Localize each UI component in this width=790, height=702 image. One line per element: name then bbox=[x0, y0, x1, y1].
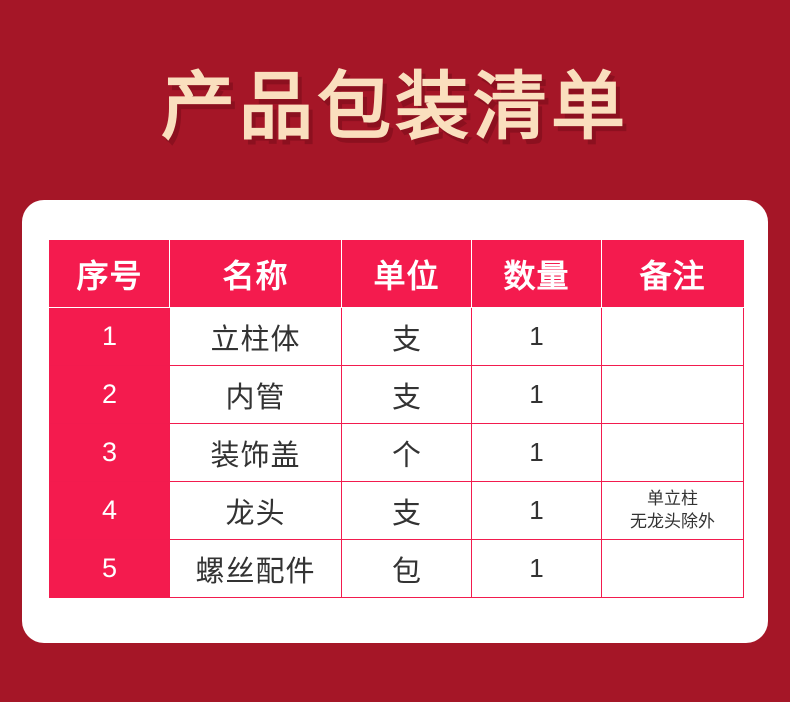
cell-index: 1 bbox=[50, 308, 170, 366]
packing-list-table: 序号 名称 单位 数量 备注 1 立柱体 支 1 bbox=[49, 240, 744, 598]
cell-remark bbox=[602, 424, 744, 482]
cell-remark: 单立柱 无龙头除外 bbox=[602, 482, 744, 540]
cell-index: 5 bbox=[50, 540, 170, 598]
table-header-row: 序号 名称 单位 数量 备注 bbox=[50, 241, 744, 308]
cell-name: 装饰盖 bbox=[170, 424, 342, 482]
cell-unit: 包 bbox=[342, 540, 472, 598]
cell-qty: 1 bbox=[472, 540, 602, 598]
cell-qty: 1 bbox=[472, 308, 602, 366]
product-packing-list-page: 产品包装清单 序号 名称 单位 数量 备注 bbox=[0, 0, 790, 702]
cell-qty: 1 bbox=[472, 424, 602, 482]
table-row: 4 龙头 支 1 单立柱 无龙头除外 bbox=[50, 482, 744, 540]
cell-unit: 支 bbox=[342, 482, 472, 540]
cell-unit: 支 bbox=[342, 308, 472, 366]
cell-remark bbox=[602, 366, 744, 424]
cell-remark bbox=[602, 308, 744, 366]
table-row: 5 螺丝配件 包 1 bbox=[50, 540, 744, 598]
cell-index: 4 bbox=[50, 482, 170, 540]
column-header-unit: 单位 bbox=[342, 241, 472, 308]
cell-name: 内管 bbox=[170, 366, 342, 424]
cell-qty: 1 bbox=[472, 366, 602, 424]
cell-index: 3 bbox=[50, 424, 170, 482]
column-header-name: 名称 bbox=[170, 241, 342, 308]
cell-remark-line1: 单立柱 bbox=[602, 488, 743, 510]
column-header-qty: 数量 bbox=[472, 241, 602, 308]
table-body: 1 立柱体 支 1 2 内管 支 1 bbox=[50, 308, 744, 598]
column-header-remark: 备注 bbox=[602, 241, 744, 308]
page-title: 产品包装清单 bbox=[161, 70, 629, 144]
cell-remark bbox=[602, 540, 744, 598]
cell-qty: 1 bbox=[472, 482, 602, 540]
cell-name: 龙头 bbox=[170, 482, 342, 540]
table-header: 序号 名称 单位 数量 备注 bbox=[50, 241, 744, 308]
packing-list-card: 序号 名称 单位 数量 备注 1 立柱体 支 1 bbox=[22, 200, 768, 643]
cell-name: 螺丝配件 bbox=[170, 540, 342, 598]
cell-index: 2 bbox=[50, 366, 170, 424]
table-row: 2 内管 支 1 bbox=[50, 366, 744, 424]
cell-unit: 支 bbox=[342, 366, 472, 424]
cell-name: 立柱体 bbox=[170, 308, 342, 366]
page-title-banner: 产品包装清单 bbox=[0, 48, 790, 166]
cell-remark-line2: 无龙头除外 bbox=[602, 511, 743, 533]
column-header-index: 序号 bbox=[50, 241, 170, 308]
table-row: 3 装饰盖 个 1 bbox=[50, 424, 744, 482]
cell-unit: 个 bbox=[342, 424, 472, 482]
table-row: 1 立柱体 支 1 bbox=[50, 308, 744, 366]
